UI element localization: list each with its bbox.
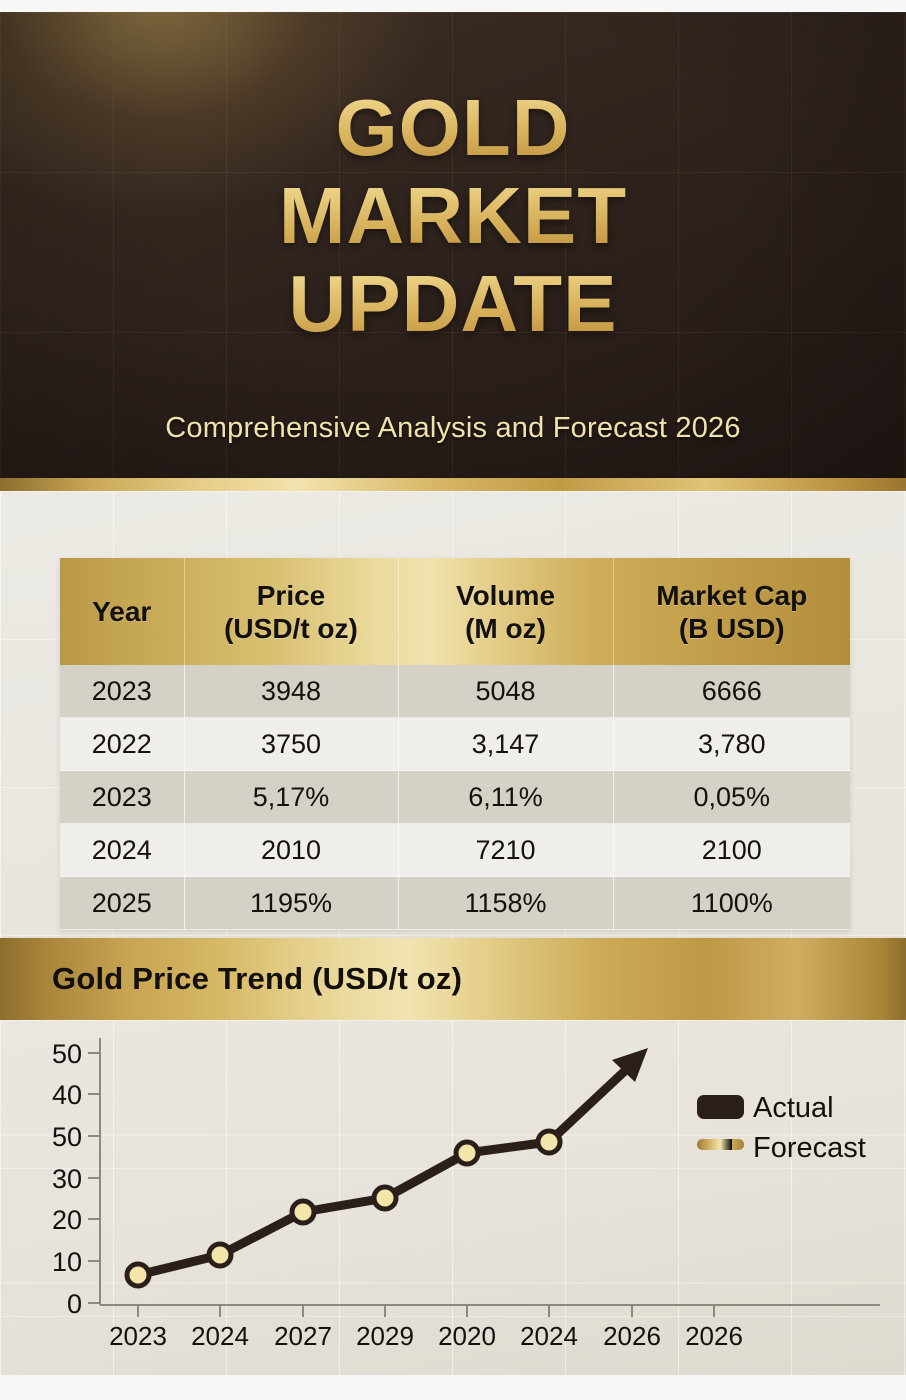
header-gold-divider — [0, 478, 906, 491]
cell-price: 5,17% — [184, 771, 398, 824]
y-tick-label: 0 — [67, 1289, 82, 1319]
x-tick-label: 2029 — [356, 1321, 414, 1351]
cell-price: 3948 — [184, 665, 398, 718]
data-point-marker — [374, 1187, 396, 1209]
top-margin-strip — [0, 0, 906, 12]
cell-year: 2025 — [60, 877, 184, 930]
column-header-volume-line2: (M oz) — [465, 613, 546, 644]
cell-year: 2024 — [60, 824, 184, 877]
cell-price: 3750 — [184, 718, 398, 771]
y-tick-label: 50 — [52, 1122, 82, 1152]
x-tick-label: 2026 — [603, 1321, 661, 1351]
table-header: Year Price (USD/t oz) Volume (M oz) Mark… — [60, 558, 850, 665]
table-body: 2023 3948 5048 6666 2022 3750 3,147 3,78… — [60, 665, 850, 930]
data-point-marker — [209, 1244, 231, 1266]
y-tick-label: 20 — [52, 1205, 82, 1235]
column-header-year-line1: Year — [92, 596, 151, 627]
legend-label-forecast: Forecast — [753, 1132, 866, 1164]
bottom-margin-strip — [0, 1375, 906, 1400]
cell-market-cap: 0,05% — [613, 771, 850, 824]
table-row: 2023 3948 5048 6666 — [60, 665, 850, 718]
x-axis-ticks — [138, 1305, 714, 1317]
column-header-volume-line1: Volume — [456, 580, 555, 611]
page-title: GOLD MARKET UPDATE — [0, 84, 906, 348]
column-header-market-cap-line2: (B USD) — [679, 613, 785, 644]
cell-market-cap: 6666 — [613, 665, 850, 718]
y-tick-label: 50 — [52, 1039, 82, 1069]
x-tick-label: 2024 — [520, 1321, 578, 1351]
table-row: 2022 3750 3,147 3,780 — [60, 718, 850, 771]
chart-title: Gold Price Trend (USD/t oz) — [52, 961, 462, 997]
cell-volume: 3,147 — [398, 718, 613, 771]
gold-price-trend-chart: 50 40 50 30 20 10 0 2023 2024 2027 202 — [0, 1020, 906, 1375]
cell-price: 1195% — [184, 877, 398, 930]
column-header-year: Year — [60, 558, 184, 665]
y-tick-label: 10 — [52, 1247, 82, 1277]
chart-canvas: 50 40 50 30 20 10 0 2023 2024 2027 202 — [0, 1020, 906, 1375]
column-header-market-cap: Market Cap (B USD) — [613, 558, 850, 665]
data-point-marker — [292, 1201, 314, 1223]
x-tick-label: 2020 — [438, 1321, 496, 1351]
market-data-table-wrapper: Year Price (USD/t oz) Volume (M oz) Mark… — [60, 558, 850, 930]
cell-price: 2010 — [184, 824, 398, 877]
table-row: 2025 1195% 1158% 1100% — [60, 877, 850, 930]
legend-swatch-actual — [697, 1095, 744, 1119]
cell-volume: 1158% — [398, 877, 613, 930]
title-line-3: UPDATE — [0, 260, 906, 348]
data-point-marker — [456, 1142, 478, 1164]
actual-trend-line — [138, 1142, 549, 1275]
trend-arrow-shaft — [549, 1067, 629, 1142]
cell-market-cap: 1100% — [613, 877, 850, 930]
y-tick-label: 30 — [52, 1164, 82, 1194]
cell-volume: 5048 — [398, 665, 613, 718]
column-header-market-cap-line1: Market Cap — [656, 580, 807, 611]
cell-year: 2023 — [60, 665, 184, 718]
y-axis-ticks — [88, 1053, 100, 1303]
title-line-2: MARKET — [0, 172, 906, 260]
cell-year: 2023 — [60, 771, 184, 824]
x-tick-label: 2024 — [191, 1321, 249, 1351]
cell-market-cap: 3,780 — [613, 718, 850, 771]
cell-year: 2022 — [60, 718, 184, 771]
title-line-1: GOLD — [0, 84, 906, 172]
y-tick-label: 40 — [52, 1080, 82, 1110]
data-point-marker — [538, 1131, 560, 1153]
cell-volume: 7210 — [398, 824, 613, 877]
column-header-volume: Volume (M oz) — [398, 558, 613, 665]
x-tick-label: 2023 — [109, 1321, 167, 1351]
cell-volume: 6,11% — [398, 771, 613, 824]
x-tick-label: 2026 — [685, 1321, 743, 1351]
column-header-price: Price (USD/t oz) — [184, 558, 398, 665]
market-data-table: Year Price (USD/t oz) Volume (M oz) Mark… — [60, 558, 850, 930]
column-header-price-line2: (USD/t oz) — [224, 613, 358, 644]
table-row: 2024 2010 7210 2100 — [60, 824, 850, 877]
header-banner: GOLD MARKET UPDATE Comprehensive Analysi… — [0, 12, 906, 478]
cell-market-cap: 2100 — [613, 824, 850, 877]
column-header-price-line1: Price — [257, 580, 326, 611]
table-row: 2023 5,17% 6,11% 0,05% — [60, 771, 850, 824]
chart-legend: Actual Forecast — [697, 1092, 866, 1164]
chart-title-bar: Gold Price Trend (USD/t oz) — [0, 938, 906, 1020]
data-point-marker — [127, 1264, 149, 1286]
x-tick-label: 2027 — [274, 1321, 332, 1351]
infographic-root: GOLD MARKET UPDATE Comprehensive Analysi… — [0, 0, 906, 1400]
table-header-row: Year Price (USD/t oz) Volume (M oz) Mark… — [60, 558, 850, 665]
page-subtitle: Comprehensive Analysis and Forecast 2026 — [0, 412, 906, 445]
legend-label-actual: Actual — [753, 1092, 834, 1124]
legend-swatch-forecast — [697, 1139, 744, 1150]
